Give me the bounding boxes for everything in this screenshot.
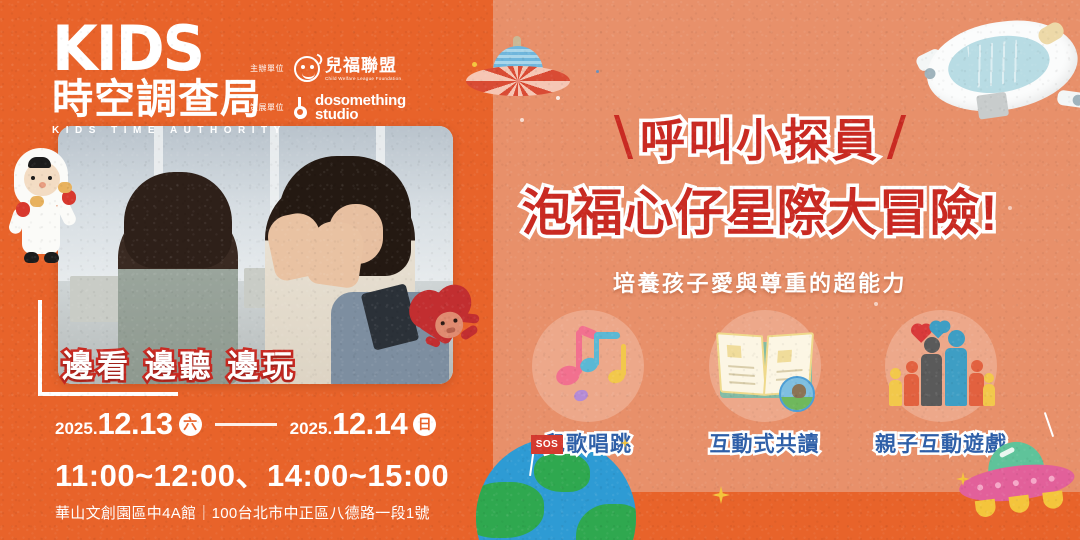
feature-item-family-games: 親子互動遊戲 (865, 310, 1017, 458)
feature-label-shared-reading: 互動式共讀 (689, 428, 841, 458)
date1-monthday: 12.13 (98, 406, 173, 442)
slash-left-decoration (614, 115, 633, 159)
dot-sparkle-icon (874, 302, 878, 306)
headline-line-1-text: 呼叫小探員 (640, 104, 880, 169)
photo-caption: 邊看 邊聽 邊玩 (62, 341, 297, 386)
child-face-icon: 兒福聯盟 Child Welfare League Foundation (294, 56, 401, 82)
date-separator (215, 423, 277, 426)
partner-organizer: 主辦單位 兒福聯盟 Child Welfare League Foundatio… (250, 56, 406, 82)
partner-logos: 主辦單位 兒福聯盟 Child Welfare League Foundatio… (250, 56, 406, 135)
slash-right-decoration (887, 115, 906, 159)
mascot-character-icon (8, 148, 74, 280)
event-time: 11:00~12:00、14:00~15:00 (55, 450, 485, 495)
partner-organizer-label: 主辦單位 (250, 64, 286, 74)
headline-line-2: 泡福心仔星際大冒險! (500, 173, 1020, 245)
music-notes-icon (532, 310, 644, 422)
headline-group: 呼叫小探員 泡福心仔星際大冒險! (500, 104, 1020, 245)
headline-line-1: 呼叫小探員 (500, 104, 1020, 169)
dot-sparkle-icon (472, 62, 477, 67)
pink-ufo-icon (954, 431, 1078, 521)
event-venue: 華山文創園區中4A館｜100台北市中正區八德路一段1號 (55, 502, 485, 523)
poster-canvas: KIDS 時空調查局 KIDS TIME AUTHORITY 主辦單位 兒福聯盟… (0, 0, 1080, 540)
date1-year: 2025. (55, 419, 98, 439)
dot-sparkle-icon (1008, 206, 1012, 210)
date1-weekday-badge: 六 (179, 413, 202, 436)
partner-curator-label: 策展單位 (250, 103, 286, 113)
partner-organizer-name-en: Child Welfare League Foundation (325, 76, 401, 81)
event-dates: 2025. 12.13 六 2025. 12.14 日 (55, 406, 485, 442)
partner-curator: 策展單位 dosomething studio (250, 94, 406, 123)
family-figures-icon (885, 310, 997, 422)
open-book-icon (709, 310, 821, 422)
date2-weekday-badge: 日 (413, 413, 436, 436)
event-info: 2025. 12.13 六 2025. 12.14 日 11:00~12:00、… (55, 406, 485, 523)
dot-sparkle-icon (520, 118, 524, 122)
feature-item-shared-reading: 互動式共讀 (689, 310, 841, 458)
striped-ufo-icon (466, 36, 570, 102)
dot-sparkle-icon (596, 70, 599, 73)
headline-subtitle: 培養孩子愛與尊重的超能力 (500, 266, 1020, 298)
partner-organizer-name: 兒福聯盟 (325, 57, 401, 74)
feature-list: 兒歌唱跳 (512, 310, 1017, 458)
date2-year: 2025. (290, 419, 333, 439)
dosomething-mark-icon: dosomething studio (294, 94, 406, 123)
heart-monkey-icon (413, 290, 485, 358)
partner-curator-name-line2: studio (315, 108, 406, 122)
date2-monthday: 12.14 (332, 406, 407, 442)
earth-flag: SOS (531, 435, 563, 454)
dot-sparkle-icon (556, 96, 560, 100)
